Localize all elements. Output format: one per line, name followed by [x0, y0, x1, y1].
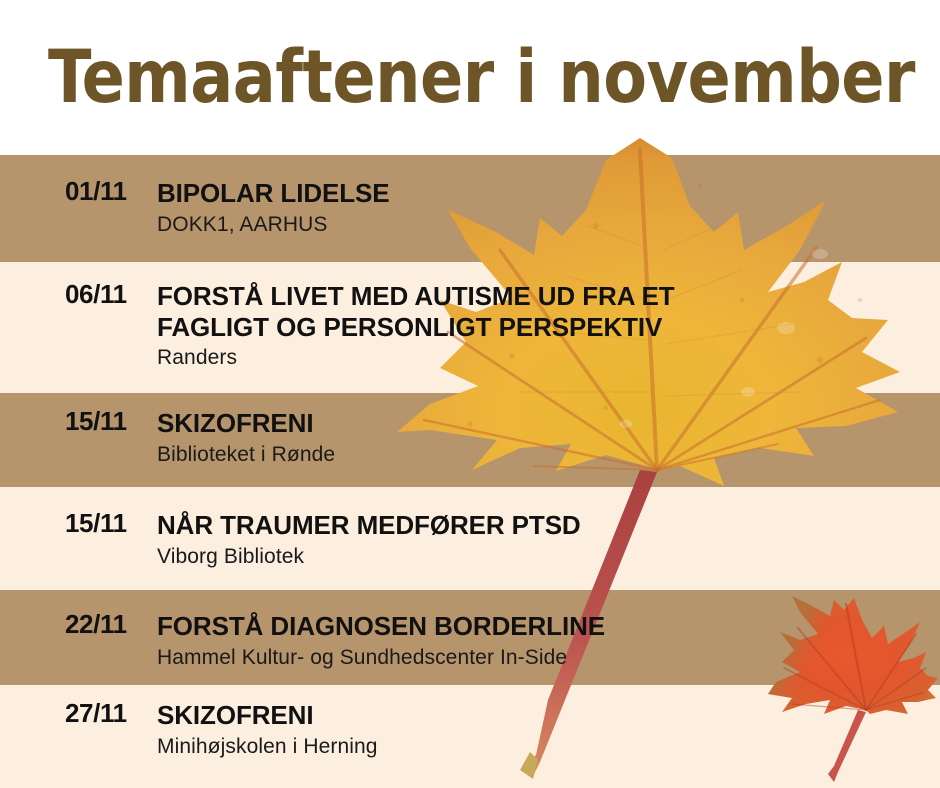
event-info: BIPOLAR LIDELSE DOKK1, AARHUS [157, 178, 940, 238]
event-row-2: 06/11 FORSTÅ LIVET MED AUTISME UD FRA ET… [0, 281, 940, 372]
event-date: 01/11 [0, 178, 157, 205]
event-place: Minihøjskolen i Herning [157, 734, 940, 760]
event-info: SKIZOFRENI Biblioteket i Rønde [157, 408, 940, 468]
event-date: 15/11 [0, 408, 157, 435]
event-info: FORSTÅ DIAGNOSEN BORDERLINE Hammel Kultu… [157, 611, 940, 671]
event-row-3: 15/11 SKIZOFRENI Biblioteket i Rønde [0, 408, 940, 468]
event-place: Randers [157, 345, 940, 371]
event-place: Hammel Kultur- og Sundhedscenter In-Side [157, 645, 940, 671]
event-date: 27/11 [0, 700, 157, 727]
event-place: DOKK1, AARHUS [157, 212, 940, 238]
event-date: 06/11 [0, 281, 157, 308]
event-title: SKIZOFRENI [157, 408, 940, 439]
event-row-6: 27/11 SKIZOFRENI Minihøjskolen i Herning [0, 700, 940, 760]
page-title: Temaaftener i november [48, 41, 915, 114]
event-place: Biblioteket i Rønde [157, 442, 940, 468]
poster: Temaaftener i november 01/11 BIPOLAR LID… [0, 0, 940, 788]
event-title: BIPOLAR LIDELSE [157, 178, 940, 209]
event-row-5: 22/11 FORSTÅ DIAGNOSEN BORDERLINE Hammel… [0, 611, 940, 671]
event-place: Viborg Bibliotek [157, 544, 940, 570]
poster-header: Temaaftener i november [0, 0, 940, 155]
event-info: NÅR TRAUMER MEDFØRER PTSD Viborg Bibliot… [157, 510, 940, 570]
event-title: FORSTÅ LIVET MED AUTISME UD FRA ET FAGLI… [157, 281, 940, 342]
event-title: NÅR TRAUMER MEDFØRER PTSD [157, 510, 940, 541]
event-info: SKIZOFRENI Minihøjskolen i Herning [157, 700, 940, 760]
event-title: FORSTÅ DIAGNOSEN BORDERLINE [157, 611, 940, 642]
event-date: 22/11 [0, 611, 157, 638]
event-row-4: 15/11 NÅR TRAUMER MEDFØRER PTSD Viborg B… [0, 510, 940, 570]
event-info: FORSTÅ LIVET MED AUTISME UD FRA ET FAGLI… [157, 281, 940, 372]
event-title: SKIZOFRENI [157, 700, 940, 731]
event-row-1: 01/11 BIPOLAR LIDELSE DOKK1, AARHUS [0, 178, 940, 238]
event-date: 15/11 [0, 510, 157, 537]
